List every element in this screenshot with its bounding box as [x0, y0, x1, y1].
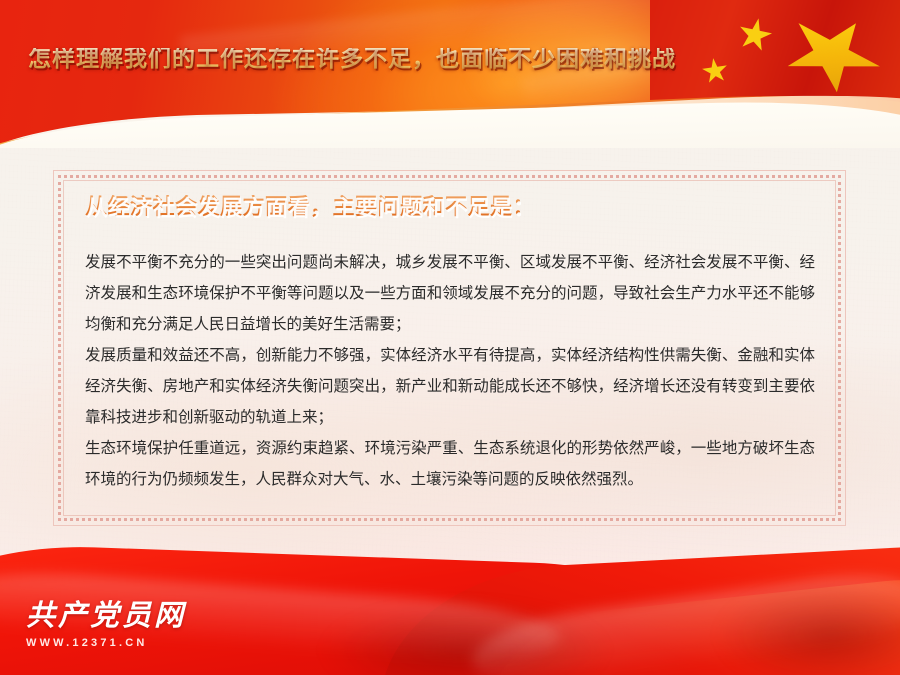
header-title: 怎样理解我们的工作还存在许多不足，也面临不少困难和挑战	[28, 48, 676, 71]
site-logo: 共产党员网 WWW.12371.CN	[26, 601, 186, 649]
content-body: 从经济社会发展方面看，主要问题和不足是： 发展不平衡不充分的一些突出问题尚未解决…	[85, 195, 815, 495]
section-heading: 从经济社会发展方面看，主要问题和不足是：	[85, 195, 815, 221]
poster-canvas: 怎样理解我们的工作还存在许多不足，也面临不少困难和挑战 怎样理解我们的工作还存在…	[0, 0, 900, 675]
footer-ribbon: 共产党员网 WWW.12371.CN	[0, 525, 900, 675]
site-logo-text: 共产党员网	[26, 601, 186, 630]
header-banner: 怎样理解我们的工作还存在许多不足，也面临不少困难和挑战 怎样理解我们的工作还存在…	[0, 0, 900, 148]
body-paragraph: 生态环境保护任重道远，资源约束趋紧、环境污染严重、生态系统退化的形势依然严峻，一…	[85, 433, 815, 495]
body-paragraph: 发展不平衡不充分的一些突出问题尚未解决，城乡发展不平衡、区域发展不平衡、经济社会…	[85, 247, 815, 340]
body-paragraph: 发展质量和效益还不高，创新能力不够强，实体经济水平有待提高，实体经济结构性供需失…	[85, 340, 815, 433]
site-logo-url: WWW.12371.CN	[26, 637, 186, 649]
